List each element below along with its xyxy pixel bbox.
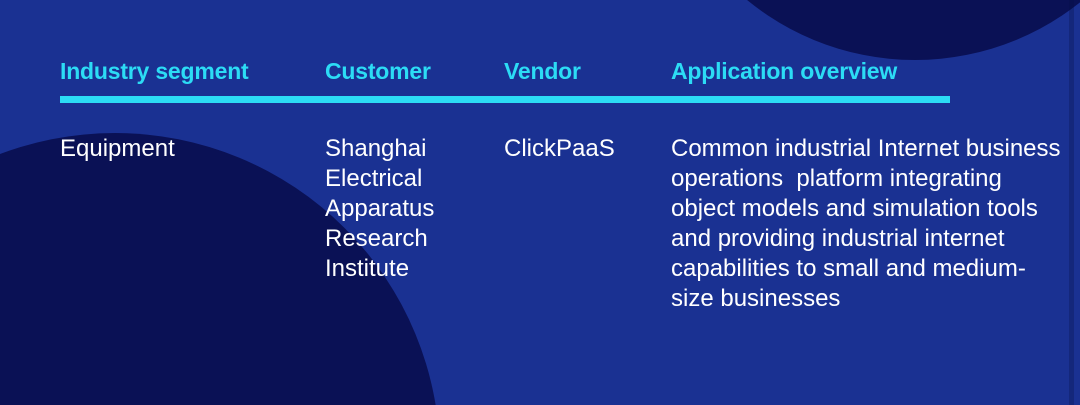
column-header-vendor: Vendor: [504, 58, 581, 85]
column-header-customer: Customer: [325, 58, 431, 85]
table-header-row: Industry segment Customer Vendor Applica…: [0, 58, 1080, 90]
column-header-application-overview: Application overview: [671, 58, 897, 85]
column-header-industry-segment: Industry segment: [60, 58, 249, 85]
cell-vendor: ClickPaaS: [504, 134, 664, 164]
slide-canvas: Industry segment Customer Vendor Applica…: [0, 0, 1080, 405]
cell-customer: Shanghai Electrical Apparatus Research I…: [325, 134, 495, 284]
cell-application-overview: Common industrial Internet business oper…: [671, 134, 1061, 314]
cell-industry-segment: Equipment: [60, 134, 310, 164]
header-underline-rule: [60, 96, 950, 103]
comparison-table: Industry segment Customer Vendor Applica…: [0, 0, 1080, 405]
